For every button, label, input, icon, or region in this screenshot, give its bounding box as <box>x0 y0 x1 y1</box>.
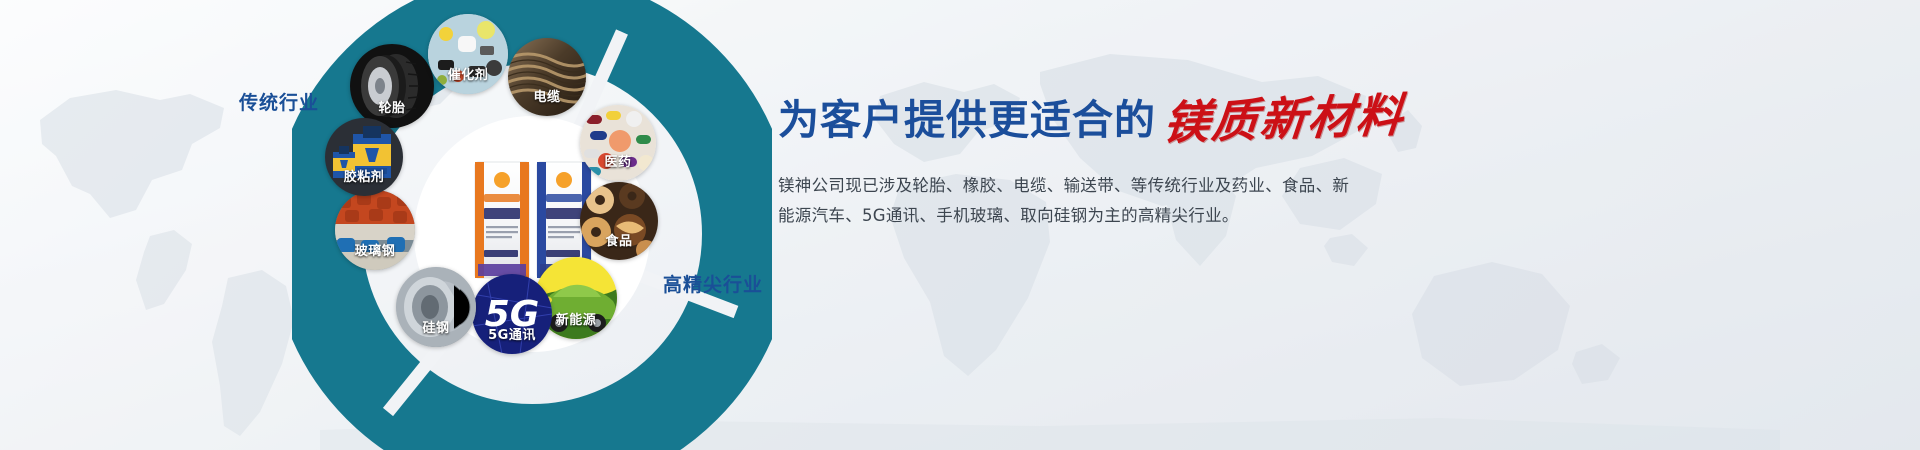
node-5g[interactable]: 5G 5G通讯 <box>472 274 552 354</box>
node-tire[interactable]: 轮胎 <box>350 44 434 128</box>
node-frp-label: 玻璃钢 <box>335 240 415 259</box>
node-food[interactable]: 食品 <box>580 182 658 260</box>
marketing-text-block: 为客户提供更适合的 镁质新材料 镁神公司现已涉及轮胎、橡胶、电缆、输送带、等传统… <box>778 96 1518 231</box>
node-catalyst-label: 催化剂 <box>428 64 508 83</box>
node-pharma[interactable]: 医药 <box>580 105 656 181</box>
node-cable-label: 电缆 <box>508 86 586 105</box>
node-silicon-steel[interactable]: 硅钢 <box>396 267 476 347</box>
description-line-1: 镁神公司现已涉及轮胎、橡胶、电缆、输送带、等传统行业及药业、食品、新 <box>778 171 1438 201</box>
node-silicon-steel-label: 硅钢 <box>396 317 476 336</box>
headline: 为客户提供更适合的 镁质新材料 <box>778 96 1518 142</box>
node-adhesive-label: 胶粘剂 <box>325 166 403 185</box>
node-frp[interactable]: 玻璃钢 <box>335 190 415 270</box>
node-catalyst[interactable]: 催化剂 <box>428 14 508 94</box>
label-traditional-industries: 传统行业 <box>239 88 319 115</box>
node-tire-label: 轮胎 <box>350 97 434 116</box>
headline-red-text: 镁质新材料 <box>1162 92 1407 146</box>
node-adhesive[interactable]: 胶粘剂 <box>325 118 403 196</box>
description-line-2: 能源汽车、5G通讯、手机玻璃、取向硅钢为主的高精尖行业。 <box>778 201 1438 231</box>
node-cable[interactable]: 电缆 <box>508 38 586 116</box>
node-5g-label: 5G通讯 <box>472 324 552 343</box>
description-paragraph: 镁神公司现已涉及轮胎、橡胶、电缆、输送带、等传统行业及药业、食品、新 能源汽车、… <box>778 171 1438 231</box>
node-pharma-label: 医药 <box>580 151 656 170</box>
label-hightech-industries: 高精尖行业 <box>663 270 763 297</box>
headline-blue-text: 为客户提供更适合的 <box>778 99 1156 142</box>
node-food-label: 食品 <box>580 230 658 249</box>
